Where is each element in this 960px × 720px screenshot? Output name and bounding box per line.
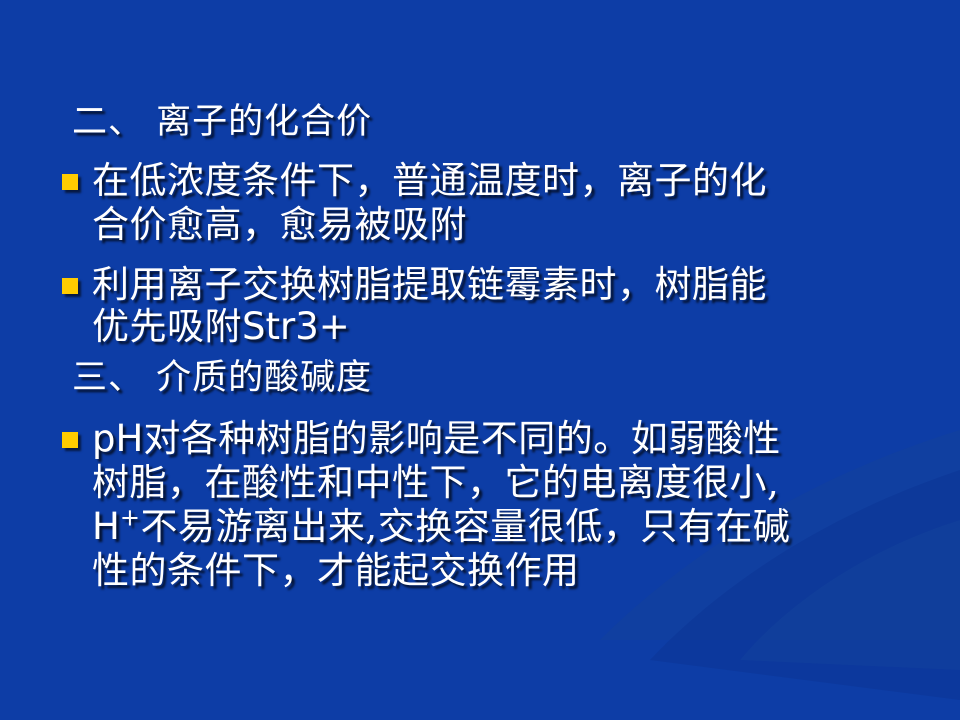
bullet-3-line-4: 性的条件下，才能起交换作用: [92, 549, 580, 593]
bullet-2-line-1: 利用离子交换树脂提取链霉素时，树脂能: [92, 263, 767, 307]
bullet-3-line-3-latin: H: [92, 505, 120, 548]
bullet-2-line-2-chinese: 优先吸附: [92, 305, 242, 348]
bullet-3-line-1-latin: pH: [92, 417, 143, 460]
slide-text-content: 二、 离子的化合价 在低浓度条件下，普通温度时，离子的化 合价愈高，愈易被吸附 …: [0, 0, 960, 720]
bullet-3-line-1: pH对各种树脂的影响是不同的。如弱酸性: [92, 417, 781, 461]
bullet-marker-3: [62, 432, 78, 448]
bullet-marker-1: [62, 174, 78, 190]
presentation-slide: 二、 离子的化合价 在低浓度条件下，普通温度时，离子的化 合价愈高，愈易被吸附 …: [0, 0, 960, 720]
bullet-marker-2: [62, 278, 78, 294]
bullet-1-line-2: 合价愈高，愈易被吸附: [92, 203, 467, 247]
bullet-2-line-2-latin: Str3+: [242, 305, 350, 348]
bullet-3-line-3-chinese: 不易游离出来,交换容量很低，只有在碱: [140, 505, 790, 548]
bullet-3-line-3: H+不易游离出来,交换容量很低，只有在碱: [92, 505, 790, 549]
bullet-3-line-1-chinese: 对各种树脂的影响是不同的。如弱酸性: [143, 417, 781, 460]
bullet-3-line-2: 树脂，在酸性和中性下，它的电离度很小,: [92, 461, 779, 505]
bullet-3-line-3-superscript: +: [120, 504, 141, 532]
section-heading-three: 三、 介质的酸碱度: [72, 358, 372, 398]
bullet-2-line-2: 优先吸附Str3+: [92, 305, 350, 349]
bullet-1-line-1: 在低浓度条件下，普通温度时，离子的化: [92, 159, 767, 203]
section-heading-two: 二、 离子的化合价: [72, 102, 372, 142]
